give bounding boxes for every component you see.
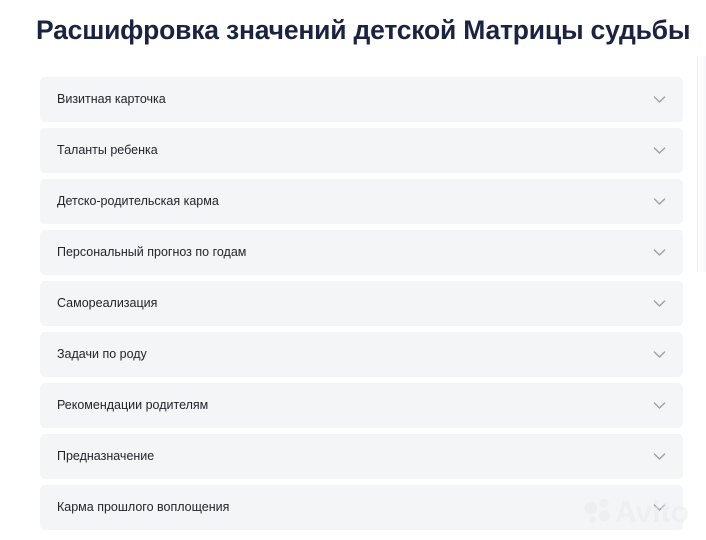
chevron-down-icon[interactable] [652, 434, 666, 479]
accordion-item[interactable]: Персональный прогноз по годам [40, 230, 683, 275]
chevron-down-icon[interactable] [652, 77, 666, 122]
chevron-down-icon[interactable] [652, 485, 666, 530]
chevron-down-icon[interactable] [652, 230, 666, 275]
accordion-item[interactable]: Задачи по роду [40, 332, 683, 377]
accordion-item[interactable]: Карма прошлого воплощения [40, 485, 683, 530]
chevron-down-icon[interactable] [652, 332, 666, 377]
accordion-item-label: Персональный прогноз по годам [57, 230, 246, 275]
page-title: Расшифровка значений детской Матрицы суд… [36, 13, 706, 47]
chevron-down-icon[interactable] [652, 281, 666, 326]
accordion-item-label: Таланты ребенка [57, 128, 158, 173]
accordion-item-label: Самореализация [57, 281, 157, 326]
accordion-item-label: Визитная карточка [57, 77, 166, 122]
chevron-down-icon[interactable] [652, 128, 666, 173]
accordion-item[interactable]: Предназначение [40, 434, 683, 479]
accordion-item-label: Предназначение [57, 434, 154, 479]
accordion-item[interactable]: Самореализация [40, 281, 683, 326]
accordion-list: Визитная карточкаТаланты ребенкаДетско-р… [40, 77, 683, 536]
accordion-item-label: Детско-родительская карма [57, 179, 219, 224]
page-root: Расшифровка значений детской Матрицы суд… [0, 0, 706, 540]
chevron-down-icon[interactable] [652, 383, 666, 428]
accordion-item-label: Рекомендации родителям [57, 383, 208, 428]
accordion-item-label: Задачи по роду [57, 332, 147, 377]
accordion-item[interactable]: Рекомендации родителям [40, 383, 683, 428]
chevron-down-icon[interactable] [652, 179, 666, 224]
accordion-item[interactable]: Детско-родительская карма [40, 179, 683, 224]
accordion-item-label: Карма прошлого воплощения [57, 485, 229, 530]
accordion-item[interactable]: Таланты ребенка [40, 128, 683, 173]
accordion-item[interactable]: Визитная карточка [40, 77, 683, 122]
outer-card-edge [697, 56, 706, 272]
